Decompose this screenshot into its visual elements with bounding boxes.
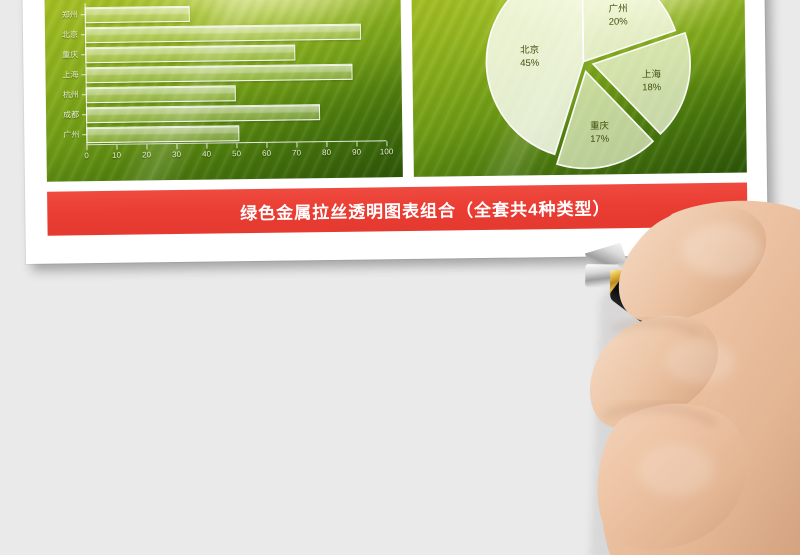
bar-category-label: 成都 [44,110,79,121]
finger-crease-1 [612,322,700,334]
bar-chart-y-tick [82,135,86,136]
pen-end-opening [742,374,771,406]
promo-banner-text: 绿色金属拉丝透明图表组合（全套共4种类型） [240,194,611,224]
bar-chart-x-tick [296,142,297,147]
bar-chart-x-tick-label: 20 [142,150,151,159]
bar-value [86,104,320,123]
bar-row: 郑州 [85,3,385,23]
bar-chart-x-tick-labels: 0102030405060708090100 [87,147,387,165]
bar-chart-x-tick-label: 40 [202,150,211,159]
bar-chart-panel: 各城市销量对比图 郑州北京重庆上海杭州成都广州 0102030405060708… [44,0,403,182]
bar-chart-plot-area: 郑州北京重庆上海杭州成都广州 0102030405060708090100 [85,1,387,145]
pie-slice-label: 北京 [520,44,539,56]
bar-category-label: 郑州 [44,10,78,21]
bar-chart-x-tick [266,143,267,148]
bar-chart-x-tick [206,144,207,149]
bar-row: 上海 [85,63,385,83]
knuckle-highlight-3 [638,444,714,496]
bar-chart-x-tick [176,144,177,149]
bar-chart-x-tick [386,141,387,146]
knuckle-highlight-2 [666,340,734,384]
bar-chart-x-tick [116,145,117,150]
pie-slice-value: 45% [520,58,540,69]
pen-grip-silver [585,264,619,288]
bar-value [85,24,361,44]
pie-slice-value: 18% [642,82,662,93]
bar-value [85,64,352,83]
bar-chart-x-tick-label: 70 [292,148,301,157]
pen-gold-band-middle [675,322,712,362]
pie-chart-svg: 广州20%上海18%重庆17%北京45% [478,0,695,173]
bar-chart-x-tick-label: 10 [112,151,121,160]
product-card-wrapper: 各城市销量对比图 郑州北京重庆上海杭州成都广州 0102030405060708… [22,0,768,264]
pie-slice-value: 20% [608,16,628,27]
bar-chart-y-tick [82,115,86,116]
middle-finger [598,404,747,550]
bar-series: 郑州北京重庆上海杭州成都广州 [85,1,387,145]
bar-chart-y-tick [81,15,85,16]
bar-chart-x-tick-label: 30 [172,150,181,159]
product-card: 各城市销量对比图 郑州北京重庆上海杭州成都广州 0102030405060708… [22,0,768,264]
bar-value [86,85,236,103]
finger-crease-2 [604,407,716,424]
pen-barrel-highlight [620,274,760,382]
bar-category-label: 重庆 [44,50,78,61]
bar-chart-x-tick-label: 100 [380,147,393,156]
pie-slice-label: 重庆 [589,120,609,132]
pie-chart-panel: 饼图 广州20%上海18%重庆17%北京45% [411,0,747,177]
bar-category-label: 上海 [44,70,79,81]
bar-chart-x-tick-label: 80 [322,148,331,157]
thumb [590,316,718,429]
fountain-pen [569,230,784,411]
bar-row: 广州 [86,123,386,143]
bar-chart-y-tick [82,95,86,96]
pen-barrel [607,272,761,399]
bar-value [85,44,295,63]
bar-category-label: 杭州 [44,90,79,101]
bar-chart-x-tick [236,143,237,148]
bar-chart-x-tick [326,142,327,147]
bar-row: 成都 [86,103,386,123]
bar-chart-x-tick-label: 50 [232,149,241,158]
bar-value [86,125,239,143]
bar-row: 北京 [85,23,385,43]
bar-value [85,6,190,23]
pie-chart-plot-area: 广州20%上海18%重庆17%北京45% [478,0,695,173]
bar-chart-y-tick [81,35,85,36]
hand-shadow [590,250,800,555]
promo-banner: 绿色金属拉丝透明图表组合（全套共4种类型） [47,183,748,236]
bar-row: 杭州 [86,83,386,103]
bar-row: 重庆 [85,43,385,63]
bar-chart-x-tick-label: 0 [84,151,89,160]
bar-category-label: 广州 [44,130,80,141]
bar-chart-x-tick-label: 60 [262,149,271,158]
bar-chart-x-tick [146,144,147,149]
pen-gold-ring-top [610,270,622,295]
pen-cap-engraved [692,336,767,403]
pie-slice-value: 17% [590,134,610,145]
bar-chart-x-tick [86,145,87,150]
bar-category-label: 北京 [44,30,78,41]
bar-chart-y-tick [81,55,85,56]
charts-row: 各城市销量对比图 郑州北京重庆上海杭州成都广州 0102030405060708… [44,0,747,182]
pen-cap-highlight [706,337,761,380]
bar-chart-x-tick-label: 90 [352,148,361,157]
bar-chart-y-tick [82,75,86,76]
pie-slice-label: 上海 [641,68,661,80]
pie-slice-label: 广州 [608,2,627,14]
bar-chart-x-tick [356,142,357,147]
